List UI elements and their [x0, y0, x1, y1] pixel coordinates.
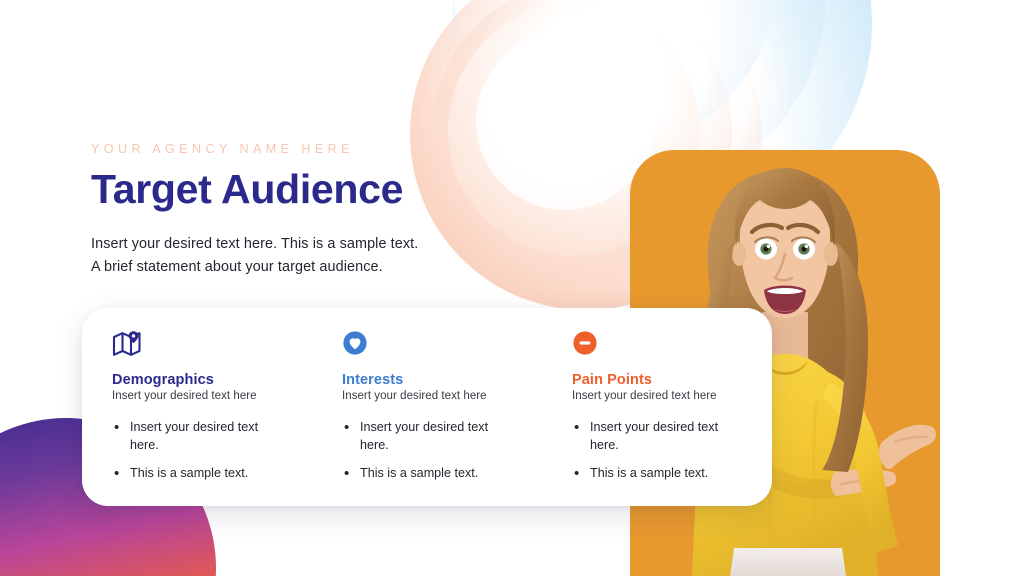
- bullet-list-pain-points: Insert your desired text here. This is a…: [572, 418, 758, 482]
- minus-circle-icon: [572, 330, 758, 360]
- list-item: This is a sample text.: [112, 464, 280, 482]
- list-item: Insert your desired text here.: [112, 418, 280, 455]
- column-title-demographics: Demographics: [112, 372, 298, 388]
- page-title: Target Audience: [91, 168, 561, 211]
- column-title-pain-points: Pain Points: [572, 372, 758, 388]
- slide-canvas: YOUR AGENCY NAME HERE Target Audience In…: [0, 0, 1024, 576]
- map-pin-icon: [112, 330, 298, 360]
- heart-circle-icon: [342, 330, 528, 360]
- intro-line-2: A brief statement about your target audi…: [91, 256, 561, 279]
- column-interests: Interests Insert your desired text here …: [312, 330, 542, 506]
- column-subtitle-interests: Insert your desired text here: [342, 390, 528, 402]
- column-pain-points: Pain Points Insert your desired text her…: [542, 330, 772, 506]
- agency-name-eyebrow: YOUR AGENCY NAME HERE: [91, 142, 561, 156]
- bullet-list-demographics: Insert your desired text here. This is a…: [112, 418, 298, 482]
- intro-paragraph: Insert your desired text here. This is a…: [91, 233, 561, 280]
- column-demographics: Demographics Insert your desired text he…: [82, 330, 312, 506]
- intro-line-1: Insert your desired text here. This is a…: [91, 233, 561, 256]
- list-item: This is a sample text.: [572, 464, 740, 482]
- column-subtitle-pain-points: Insert your desired text here: [572, 390, 758, 402]
- column-subtitle-demographics: Insert your desired text here: [112, 390, 298, 402]
- column-title-interests: Interests: [342, 372, 528, 388]
- bullet-list-interests: Insert your desired text here. This is a…: [342, 418, 528, 482]
- slide-header: YOUR AGENCY NAME HERE Target Audience In…: [91, 142, 561, 279]
- background-ring-blue-inner: [450, 0, 780, 150]
- list-item: Insert your desired text here.: [342, 418, 510, 455]
- list-item: Insert your desired text here.: [572, 418, 740, 455]
- feature-card: Demographics Insert your desired text he…: [82, 308, 772, 506]
- list-item: This is a sample text.: [342, 464, 510, 482]
